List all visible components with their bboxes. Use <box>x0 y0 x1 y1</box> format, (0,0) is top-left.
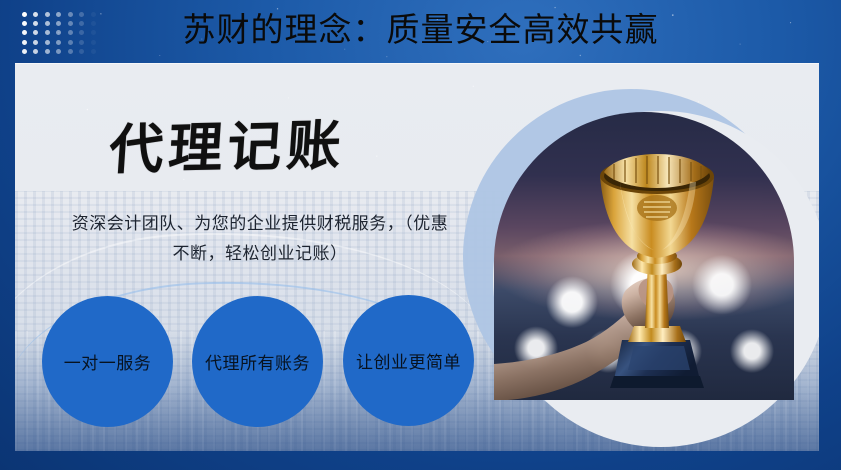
feature-circle-3-label: 让创业更简单 <box>356 348 461 373</box>
feature-circle-3[interactable]: 让创业更简单 <box>343 295 474 426</box>
slide-root: 苏财的理念：质量安全高效共赢 <box>0 0 841 470</box>
feature-circle-2[interactable]: 代理所有账务 <box>192 296 323 427</box>
content-panel: 代理记账 资深会计团队、为您的企业提供财税服务，（优惠不断，轻松创业记账） 一对… <box>15 63 819 451</box>
page-title: 苏财的理念：质量安全高效共赢 <box>0 6 841 54</box>
feature-circle-1[interactable]: 一对一服务 <box>42 296 173 427</box>
headline: 代理记账 <box>107 101 349 185</box>
trophy-photo <box>494 112 794 400</box>
trophy-illustration <box>494 112 794 400</box>
feature-circle-2-label: 代理所有账务 <box>205 349 310 374</box>
feature-circle-1-label: 一对一服务 <box>64 349 152 374</box>
header-bar: 苏财的理念：质量安全高效共赢 <box>0 0 841 63</box>
subcopy-text: 资深会计团队、为您的企业提供财税服务，（优惠不断，轻松创业记账） <box>65 209 455 269</box>
